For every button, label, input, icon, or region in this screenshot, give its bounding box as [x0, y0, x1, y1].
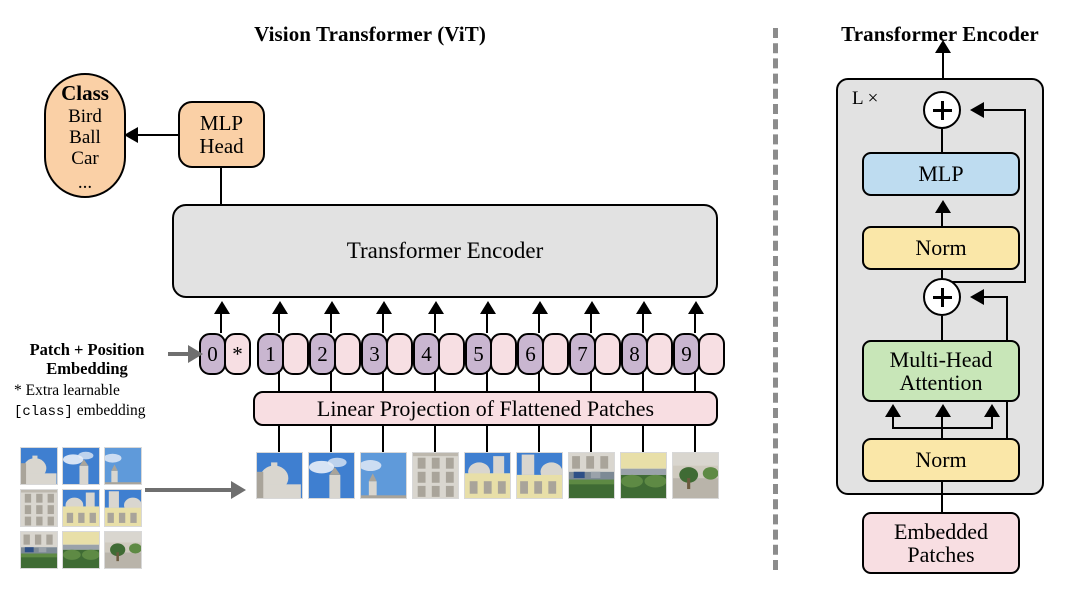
token-number: 4 — [413, 333, 440, 375]
footnote-line2-suffix: embedding — [73, 402, 146, 419]
token-embedding — [386, 333, 413, 375]
patch-input-line — [642, 426, 644, 453]
mha-label-line1: Multi-Head — [890, 348, 993, 371]
flattened-patch — [412, 452, 459, 499]
mlp-head-box: MLP Head — [178, 101, 265, 168]
encoder-input-arrow-head — [584, 301, 600, 314]
patch-input-line — [538, 426, 540, 453]
source-patch — [62, 531, 100, 569]
encoder-input-shaft — [486, 314, 488, 333]
patch-input-line — [590, 426, 592, 453]
flattened-patch — [464, 452, 511, 499]
residual-bottom-arrow-head — [970, 289, 984, 305]
token-embedding — [646, 333, 673, 375]
encoder-input-arrow-head — [214, 301, 230, 314]
class-item: Car — [71, 148, 98, 169]
encoder-input-shaft — [642, 314, 644, 333]
patch-token-5: 5 — [465, 333, 517, 375]
mha-label-line2: Attention — [899, 371, 982, 394]
patch-token-0: 0* — [199, 333, 251, 375]
mlp-to-class-arrow-head — [124, 127, 138, 143]
residual-top-shaft-h — [982, 109, 1026, 111]
patch-input-line — [382, 426, 384, 453]
class-token-code: [class] — [14, 404, 73, 420]
norm-bottom-label: Norm — [915, 448, 966, 471]
repeat-count-label: L × — [852, 88, 878, 110]
linear-projection-box: Linear Projection of Flattened Patches — [253, 391, 718, 426]
flattened-patch — [672, 452, 719, 499]
encoder-input-arrow-head — [636, 301, 652, 314]
projection-output-line — [382, 371, 384, 393]
token-number: 9 — [673, 333, 700, 375]
mlp-block-label: MLP — [918, 162, 963, 185]
encoder-input-arrow-head — [532, 301, 548, 314]
token-embedding — [282, 333, 309, 375]
embedding-label-line1: Patch + Position — [8, 340, 166, 359]
token-embedding — [490, 333, 517, 375]
embedding-label-arrow-head — [188, 345, 203, 363]
embedded-patches-block: Embedded Patches — [862, 512, 1020, 574]
patch-token-3: 3 — [361, 333, 413, 375]
residual-top-shaft-v — [1024, 109, 1026, 283]
class-output-box: Class Bird Ball Car ... — [44, 73, 126, 198]
encoder-input-shaft — [434, 314, 436, 333]
patch-token-7: 7 — [569, 333, 621, 375]
patch-token-8: 8 — [621, 333, 673, 375]
attention-input-fanout — [892, 427, 993, 429]
embedding-label-arrow-shaft — [168, 352, 190, 356]
projection-output-line — [434, 371, 436, 393]
footnote-line1: * Extra learnable — [14, 381, 189, 401]
patch-input-line — [434, 426, 436, 453]
projection-output-line — [330, 371, 332, 393]
source-patch — [62, 489, 100, 527]
patch-input-line — [694, 426, 696, 453]
residual-add-bottom — [923, 278, 961, 316]
norm-top-to-mlp-arrow-head — [935, 200, 951, 213]
projection-output-line — [642, 371, 644, 393]
mlp-head-label-line1: MLP — [200, 112, 243, 134]
flattened-patch — [516, 452, 563, 499]
patch-token-4: 4 — [413, 333, 465, 375]
class-heading: Class — [61, 82, 109, 106]
flattened-patch — [256, 452, 303, 499]
encoder-input-shaft — [590, 314, 592, 333]
embedding-label-line2: Embedding — [8, 359, 166, 378]
token-embedding — [438, 333, 465, 375]
token-number: 5 — [465, 333, 492, 375]
encoder-input-arrow-head — [688, 301, 704, 314]
norm-bottom-block: Norm — [862, 438, 1020, 482]
patch-input-line — [278, 426, 280, 453]
residual-add-top — [923, 91, 961, 129]
multi-head-attention-block: Multi-Head Attention — [862, 340, 1020, 402]
projection-output-line — [278, 371, 280, 393]
encoder-input-arrow-head — [480, 301, 496, 314]
left-panel-title: Vision Transformer (ViT) — [110, 22, 630, 47]
grid-to-strip-arrow-shaft — [145, 488, 233, 492]
source-patch — [20, 531, 58, 569]
embedded-patches-to-norm-line — [941, 480, 943, 514]
patch-position-embedding-label: Patch + Position Embedding — [8, 340, 166, 378]
extra-learnable-footnote: * Extra learnable [class] embedding — [14, 381, 189, 421]
flattened-patch — [620, 452, 667, 499]
transformer-encoder-box: Transformer Encoder — [172, 204, 718, 298]
token-embedding — [334, 333, 361, 375]
patch-token-9: 9 — [673, 333, 725, 375]
token-number: 3 — [361, 333, 388, 375]
source-patch — [104, 447, 142, 485]
panel-divider — [773, 28, 778, 570]
token-number: 6 — [517, 333, 544, 375]
encoder-input-shaft — [694, 314, 696, 333]
linear-projection-label: Linear Projection of Flattened Patches — [317, 397, 654, 420]
source-patch — [20, 447, 58, 485]
norm-top-block: Norm — [862, 226, 1020, 270]
mlp-to-class-arrow-shaft — [134, 134, 179, 136]
source-patch — [62, 447, 100, 485]
patch-token-1: 1 — [257, 333, 309, 375]
encoder-input-shaft — [330, 314, 332, 333]
token-embedding — [542, 333, 569, 375]
transformer-encoder-label: Transformer Encoder — [347, 239, 544, 263]
source-patch — [104, 531, 142, 569]
token-number: 2 — [309, 333, 336, 375]
flattened-patch — [308, 452, 355, 499]
flattened-patch — [568, 452, 615, 499]
token-number: 7 — [569, 333, 596, 375]
class-item: Ball — [69, 127, 101, 148]
patch-input-line — [330, 426, 332, 453]
residual-bottom-shaft-h — [982, 296, 1008, 298]
embedded-patches-line2: Patches — [907, 543, 974, 566]
mlp-head-label-line2: Head — [199, 135, 243, 157]
projection-output-line — [590, 371, 592, 393]
token-embedding — [594, 333, 621, 375]
class-item: Bird — [68, 106, 102, 127]
encoder-input-arrow-head — [376, 301, 392, 314]
norm-top-label: Norm — [915, 236, 966, 259]
source-patch — [104, 489, 142, 527]
encoder-input-shaft — [278, 314, 280, 333]
flattened-patch — [360, 452, 407, 499]
token-number: 0 — [199, 333, 226, 375]
patch-input-line — [486, 426, 488, 453]
token-number: 1 — [257, 333, 284, 375]
encoder-input-shaft — [538, 314, 540, 333]
class-item: ... — [78, 170, 92, 189]
embedded-patches-line1: Embedded — [894, 520, 988, 543]
encoder-input-shaft — [382, 314, 384, 333]
encoder-input-shaft — [220, 314, 222, 333]
mlp-block: MLP — [862, 152, 1020, 196]
encoder-input-arrow-head — [272, 301, 288, 314]
footnote-line2: [class] embedding — [14, 401, 189, 421]
token-embedding — [698, 333, 725, 375]
projection-output-line — [538, 371, 540, 393]
vit-architecture-figure: Vision Transformer (ViT) Transformer Enc… — [0, 0, 1080, 593]
token-embedding: * — [224, 333, 251, 375]
encoder-input-arrow-head — [428, 301, 444, 314]
patch-token-6: 6 — [517, 333, 569, 375]
projection-output-line — [694, 371, 696, 393]
token-number: 8 — [621, 333, 648, 375]
source-patch — [20, 489, 58, 527]
residual-top-arrow-head — [970, 102, 984, 118]
patch-token-2: 2 — [309, 333, 361, 375]
mlp-head-to-encoder-line — [220, 168, 222, 206]
grid-to-strip-arrow-head — [231, 481, 246, 499]
encoder-input-arrow-head — [324, 301, 340, 314]
projection-output-line — [486, 371, 488, 393]
encoder-output-arrow-head — [935, 40, 951, 53]
